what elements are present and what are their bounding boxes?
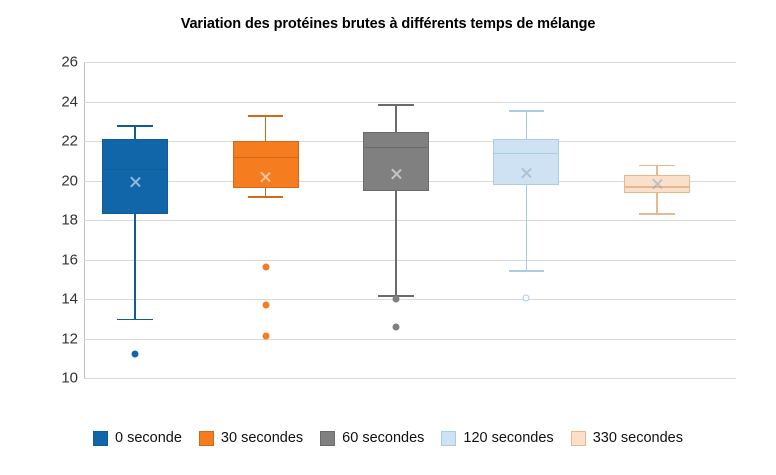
box-plot-group[interactable]: [84, 62, 736, 378]
y-tick-label: 26: [6, 54, 78, 71]
legend-swatch-icon: [320, 431, 335, 446]
plot-area: [84, 62, 736, 378]
legend-label: 330 secondes: [593, 430, 683, 446]
mean-marker-x-icon: [650, 178, 663, 191]
lower-whisker-cap: [639, 213, 675, 215]
chart-legend: 0 seconde30 secondes60 secondes120 secon…: [0, 430, 776, 446]
upper-whisker-cap: [639, 165, 675, 167]
y-axis-ticks: 262422201816141210: [0, 62, 78, 379]
y-tick-label: 22: [6, 133, 78, 150]
y-tick-label: 20: [6, 172, 78, 189]
y-tick-label: 16: [6, 251, 78, 268]
legend-label: 120 secondes: [463, 430, 553, 446]
legend-item[interactable]: 30 secondes: [199, 430, 303, 446]
y-tick-label: 24: [6, 93, 78, 110]
y-tick-label: 12: [6, 330, 78, 347]
legend-item[interactable]: 60 secondes: [320, 430, 424, 446]
legend-item[interactable]: 330 secondes: [571, 430, 683, 446]
legend-swatch-icon: [93, 431, 108, 446]
legend-swatch-icon: [199, 431, 214, 446]
chart-title: Variation des protéines brutes à différe…: [0, 16, 776, 32]
legend-swatch-icon: [571, 431, 586, 446]
legend-item[interactable]: 120 secondes: [441, 430, 553, 446]
box-plot-chart: Variation des protéines brutes à différe…: [0, 0, 776, 475]
legend-label: 60 secondes: [342, 430, 424, 446]
legend-swatch-icon: [441, 431, 456, 446]
lower-whisker: [656, 193, 658, 213]
legend-label: 30 secondes: [221, 430, 303, 446]
y-tick-label: 18: [6, 212, 78, 229]
legend-item[interactable]: 0 seconde: [93, 430, 182, 446]
legend-label: 0 seconde: [115, 430, 182, 446]
gridline: [84, 378, 736, 379]
y-tick-label: 10: [6, 370, 78, 387]
y-tick-label: 14: [6, 291, 78, 308]
